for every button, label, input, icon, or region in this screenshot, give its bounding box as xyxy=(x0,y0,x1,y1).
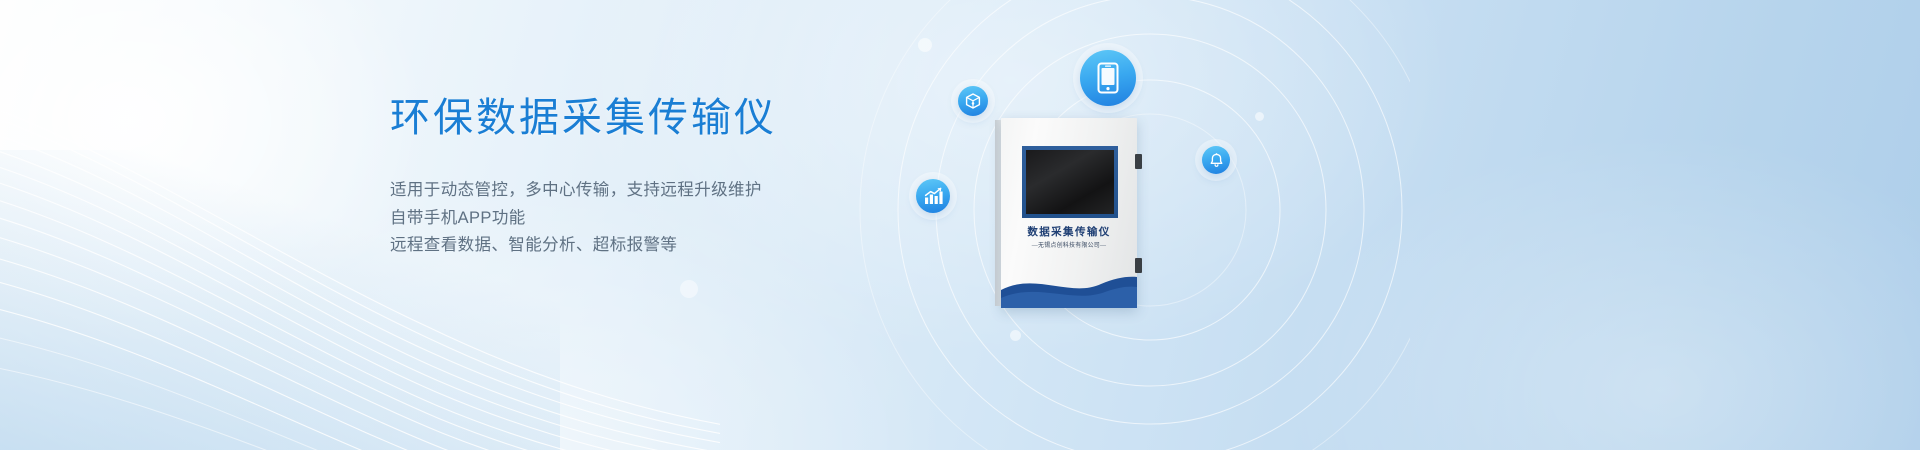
device-bottom-wave xyxy=(1001,268,1137,308)
product-hero-banner: 环保数据采集传输仪 适用于动态管控，多中心传输，支持远程升级维护 自带手机APP… xyxy=(0,0,1920,450)
banner-feature-line-3: 远程查看数据、智能分析、超标报警等 xyxy=(390,232,910,260)
banner-feature-list: 适用于动态管控，多中心传输，支持远程升级维护 自带手机APP功能 远程查看数据、… xyxy=(390,177,910,260)
decorative-dot xyxy=(918,38,932,52)
banner-copy: 环保数据采集传输仪 适用于动态管控，多中心传输，支持远程升级维护 自带手机APP… xyxy=(390,92,910,260)
decorative-dot xyxy=(680,280,698,298)
banner-feature-line-1: 适用于动态管控，多中心传输，支持远程升级维护 xyxy=(390,177,910,205)
banner-feature-line-2: 自带手机APP功能 xyxy=(390,205,910,233)
device-model-label: 数据采集传输仪 xyxy=(1001,224,1137,239)
device-latch xyxy=(1135,154,1142,169)
product-device-image: 数据采集传输仪 —无锡点创科技有限公司— xyxy=(995,118,1143,308)
device-latch xyxy=(1135,258,1142,273)
device-company-label: —无锡点创科技有限公司— xyxy=(1001,240,1137,249)
device-screen-bezel xyxy=(1022,146,1118,218)
alarm-bell-icon[interactable] xyxy=(1202,146,1230,174)
bar-chart-growth-icon[interactable] xyxy=(916,179,950,213)
device-screen xyxy=(1026,150,1114,214)
decorative-dot xyxy=(1010,330,1021,341)
mobile-phone-icon[interactable] xyxy=(1080,50,1136,106)
cube-box-icon[interactable] xyxy=(958,86,988,116)
banner-title: 环保数据采集传输仪 xyxy=(390,92,910,144)
decorative-dot xyxy=(1255,112,1264,121)
